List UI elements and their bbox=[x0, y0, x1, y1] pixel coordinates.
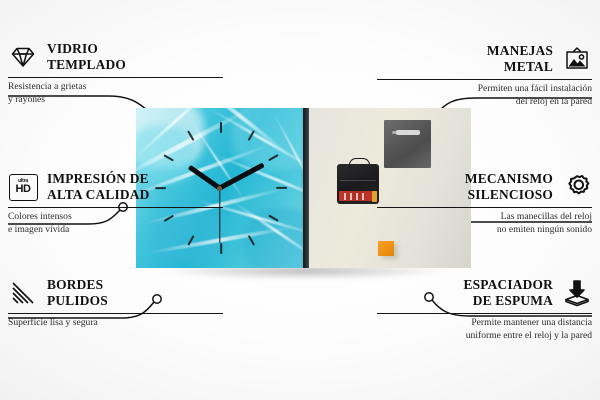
quartz-movement-box bbox=[337, 164, 379, 204]
feature-title: BORDES PULIDOS bbox=[47, 277, 108, 309]
clock-tick bbox=[247, 235, 254, 246]
feature-description: Superficie lisa y segura bbox=[8, 317, 223, 330]
feature-impresion-alta-calidad: ultra HD IMPRESIÓN DE ALTA CALIDAD Color… bbox=[8, 170, 223, 237]
feature-manejas-metal: MANEJAS METAL Permiten una fácil instala… bbox=[377, 42, 592, 109]
clock-tick bbox=[247, 130, 254, 141]
feature-description: Resistencia a grietas y rayones bbox=[8, 81, 223, 107]
feature-description: Colores intensos e imagen vívida bbox=[8, 211, 223, 237]
clock-tick bbox=[220, 243, 222, 254]
movement-seam bbox=[340, 180, 376, 181]
ultra-hd-icon: ultra HD bbox=[8, 173, 38, 201]
feature-title: VIDRIO TEMPLADO bbox=[47, 41, 126, 73]
feature-vidrio-templado: VIDRIO TEMPLADO Resistencia a grietas y … bbox=[8, 40, 223, 107]
clock-tick bbox=[163, 154, 174, 161]
feature-divider bbox=[377, 313, 592, 314]
clock-tick bbox=[187, 130, 194, 141]
feature-divider bbox=[377, 79, 592, 80]
clock-minute-hand bbox=[218, 162, 264, 190]
wall-mount-frame-icon bbox=[562, 45, 592, 73]
feature-description: Las manecillas del reloj no emiten ningú… bbox=[377, 211, 592, 237]
feature-divider bbox=[377, 207, 592, 208]
hanger-keyhole-slot bbox=[396, 130, 420, 135]
diamond-icon bbox=[8, 43, 38, 71]
movement-hanging-loop bbox=[349, 158, 370, 168]
clock-tick bbox=[268, 154, 279, 161]
feature-divider bbox=[8, 207, 223, 208]
metal-hanger-plate bbox=[384, 120, 431, 168]
feature-title: MANEJAS METAL bbox=[487, 43, 553, 75]
feature-mecanismo-silencioso: MECANISMO SILENCIOSO Las manecillas del … bbox=[377, 170, 592, 237]
clock-tick bbox=[268, 215, 279, 222]
feature-title: ESPACIADOR DE ESPUMA bbox=[463, 277, 553, 309]
feature-divider bbox=[8, 313, 223, 314]
feature-description: Permite mantener una distancia uniforme … bbox=[377, 317, 592, 343]
feature-title: IMPRESIÓN DE ALTA CALIDAD bbox=[47, 171, 149, 203]
foam-spacer-pad bbox=[378, 241, 394, 256]
feature-espaciador-de-espuma: ESPACIADOR DE ESPUMA Permite mantener un… bbox=[377, 276, 592, 343]
feature-description: Permiten una fácil instalación del reloj… bbox=[377, 83, 592, 109]
clock-tick bbox=[220, 122, 222, 133]
infographic-canvas: VIDRIO TEMPLADO Resistencia a grietas y … bbox=[0, 0, 600, 400]
clock-tick bbox=[276, 187, 287, 189]
feature-title: MECANISMO SILENCIOSO bbox=[465, 171, 553, 203]
feature-divider bbox=[8, 77, 223, 78]
feature-bordes-pulidos: BORDES PULIDOS Superficie lisa y segura bbox=[8, 276, 223, 330]
ultra-hd-icon-main-label: HD bbox=[15, 184, 30, 195]
foam-spacer-arrow-icon bbox=[562, 279, 592, 307]
gear-icon bbox=[562, 173, 592, 201]
polished-edge-icon bbox=[8, 279, 38, 307]
